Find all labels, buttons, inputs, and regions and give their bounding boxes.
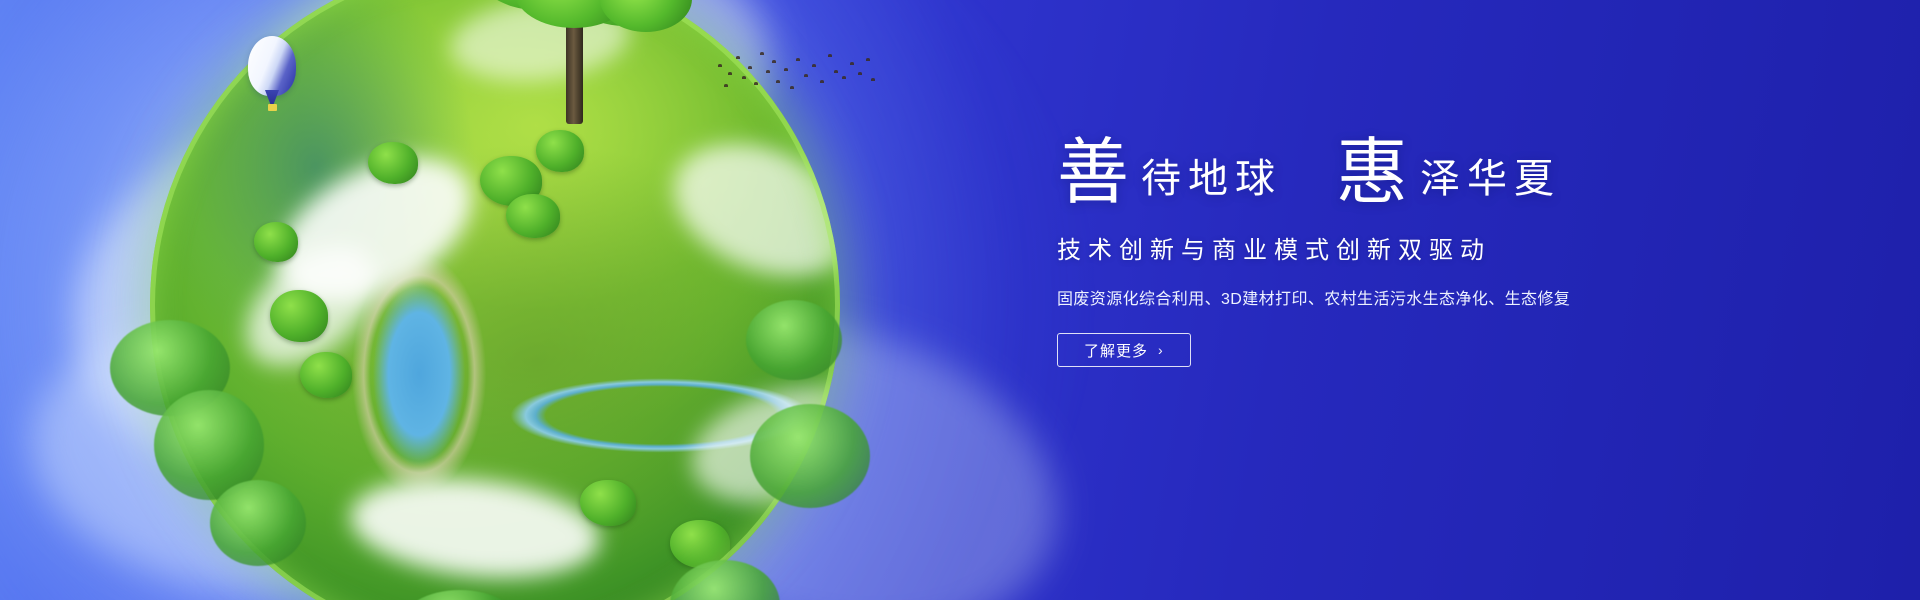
edge-tree	[670, 560, 780, 600]
cloud-wisp	[14, 302, 466, 600]
learn-more-button[interactable]: 了解更多 ›	[1057, 333, 1191, 367]
edge-tree	[210, 480, 306, 566]
tree-canopy	[514, 0, 634, 28]
hero-banner: 善 待地球 惠 泽华夏 技术创新与商业模式创新双驱动 固废资源化综合利用、3D建…	[0, 0, 1920, 600]
balloon-envelope	[248, 36, 296, 96]
surface-cloud	[346, 467, 605, 589]
bird-flock	[716, 46, 876, 94]
tree-canopy	[600, 0, 692, 32]
surface-cloud	[654, 119, 840, 301]
tree-canopy	[472, 0, 602, 10]
balloon-basket	[268, 104, 277, 111]
cloud-wisp	[233, 0, 787, 255]
banner-subtitle: 技术创新与商业模式创新双驱动	[1057, 230, 1757, 265]
edge-tree	[110, 320, 230, 416]
edge-tree	[750, 404, 870, 508]
tree-clump	[670, 520, 730, 568]
hero-tree	[450, 0, 700, 158]
cloud-wisp	[29, 57, 572, 523]
edge-tree	[746, 300, 842, 380]
tree-clump	[254, 222, 298, 262]
edge-tree	[154, 390, 264, 500]
tree-clump	[580, 480, 636, 526]
banner-detail-text: 固废资源化综合利用、3D建材打印、农村生活污水生态净化、生态修复	[1057, 285, 1757, 309]
page-title: 善 待地球 惠 泽华夏	[1057, 140, 1757, 206]
tree-canopy	[554, 0, 696, 26]
tree-clump	[368, 142, 418, 184]
tree-clump	[300, 352, 352, 398]
chevron-right-icon: ›	[1158, 343, 1164, 357]
surface-cloud	[446, 0, 633, 89]
balloon-skirt	[265, 90, 279, 104]
sky-glow	[0, 0, 1090, 600]
headline-part2-big: 惠	[1336, 140, 1410, 206]
tree-clump	[506, 194, 560, 238]
headline-part1-big: 善	[1057, 140, 1131, 206]
surface-cloud	[254, 128, 496, 333]
headline-part2-small: 泽华夏	[1410, 159, 1561, 206]
surface-cloud	[224, 223, 398, 390]
banner-copy: 善 待地球 惠 泽华夏 技术创新与商业模式创新双驱动 固废资源化综合利用、3D建…	[1057, 140, 1757, 367]
surface-cloud	[680, 367, 840, 522]
tree-clump	[270, 290, 328, 342]
edge-tree	[400, 590, 520, 600]
tree-trunk	[566, 0, 583, 124]
tree-clump	[480, 156, 542, 206]
learn-more-label: 了解更多	[1084, 340, 1148, 361]
tree-clump	[536, 130, 584, 172]
hot-air-balloon-icon	[248, 36, 300, 118]
headline-part1-small: 待地球	[1131, 159, 1282, 206]
cloud-wisp	[571, 279, 1090, 600]
